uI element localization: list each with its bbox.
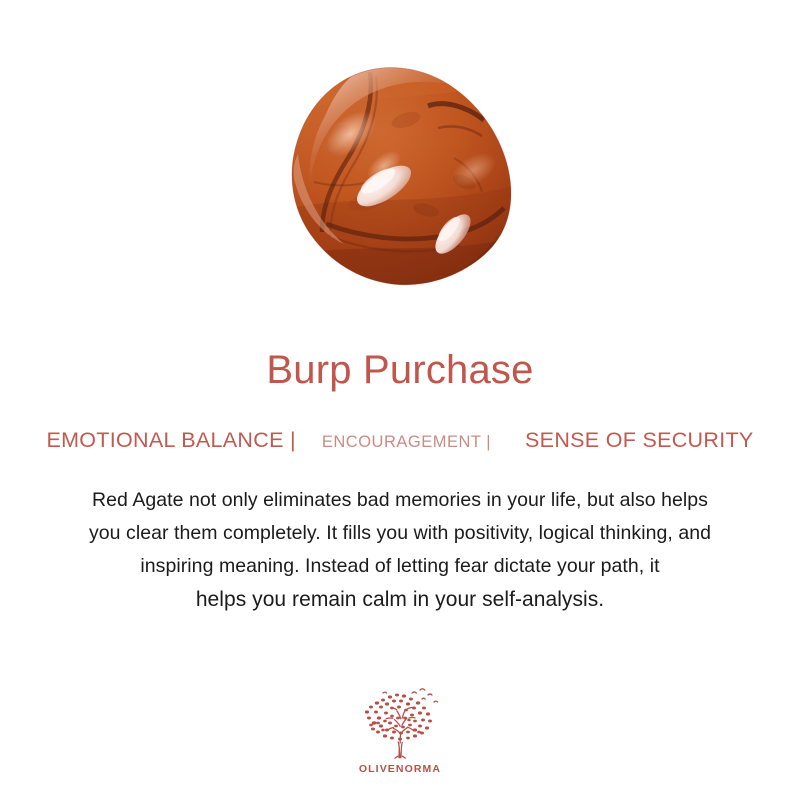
red-agate-stone-icon	[278, 62, 528, 292]
product-image-area	[0, 0, 800, 320]
description-line: Red Agate not only eliminates bad memori…	[40, 484, 760, 517]
page-title: Burp Purchase	[0, 348, 800, 393]
tree-with-birds-icon	[354, 688, 446, 760]
benefit-tagline-row: EMOTIONAL BALANCE | ENCOURAGEMENT | SENS…	[0, 428, 800, 453]
tagline-item-emotional-balance: EMOTIONAL BALANCE |	[46, 428, 295, 453]
description-line: inspiring meaning. Instead of letting fe…	[40, 550, 760, 583]
product-info-card: Burp Purchase EMOTIONAL BALANCE | ENCOUR…	[0, 0, 800, 800]
description-line: you clear them completely. It fills you …	[40, 517, 760, 550]
tagline-item-encouragement: ENCOURAGEMENT |	[322, 433, 491, 452]
brand-logo: OLIVENORMA	[350, 688, 450, 775]
product-description: Red Agate not only eliminates bad memori…	[40, 484, 760, 617]
tagline-item-sense-of-security: SENSE OF SECURITY	[525, 428, 754, 453]
description-line: helps you remain calm in your self-analy…	[40, 583, 760, 617]
brand-wordmark: OLIVENORMA	[350, 763, 450, 775]
red-agate-stone-image	[278, 62, 528, 292]
